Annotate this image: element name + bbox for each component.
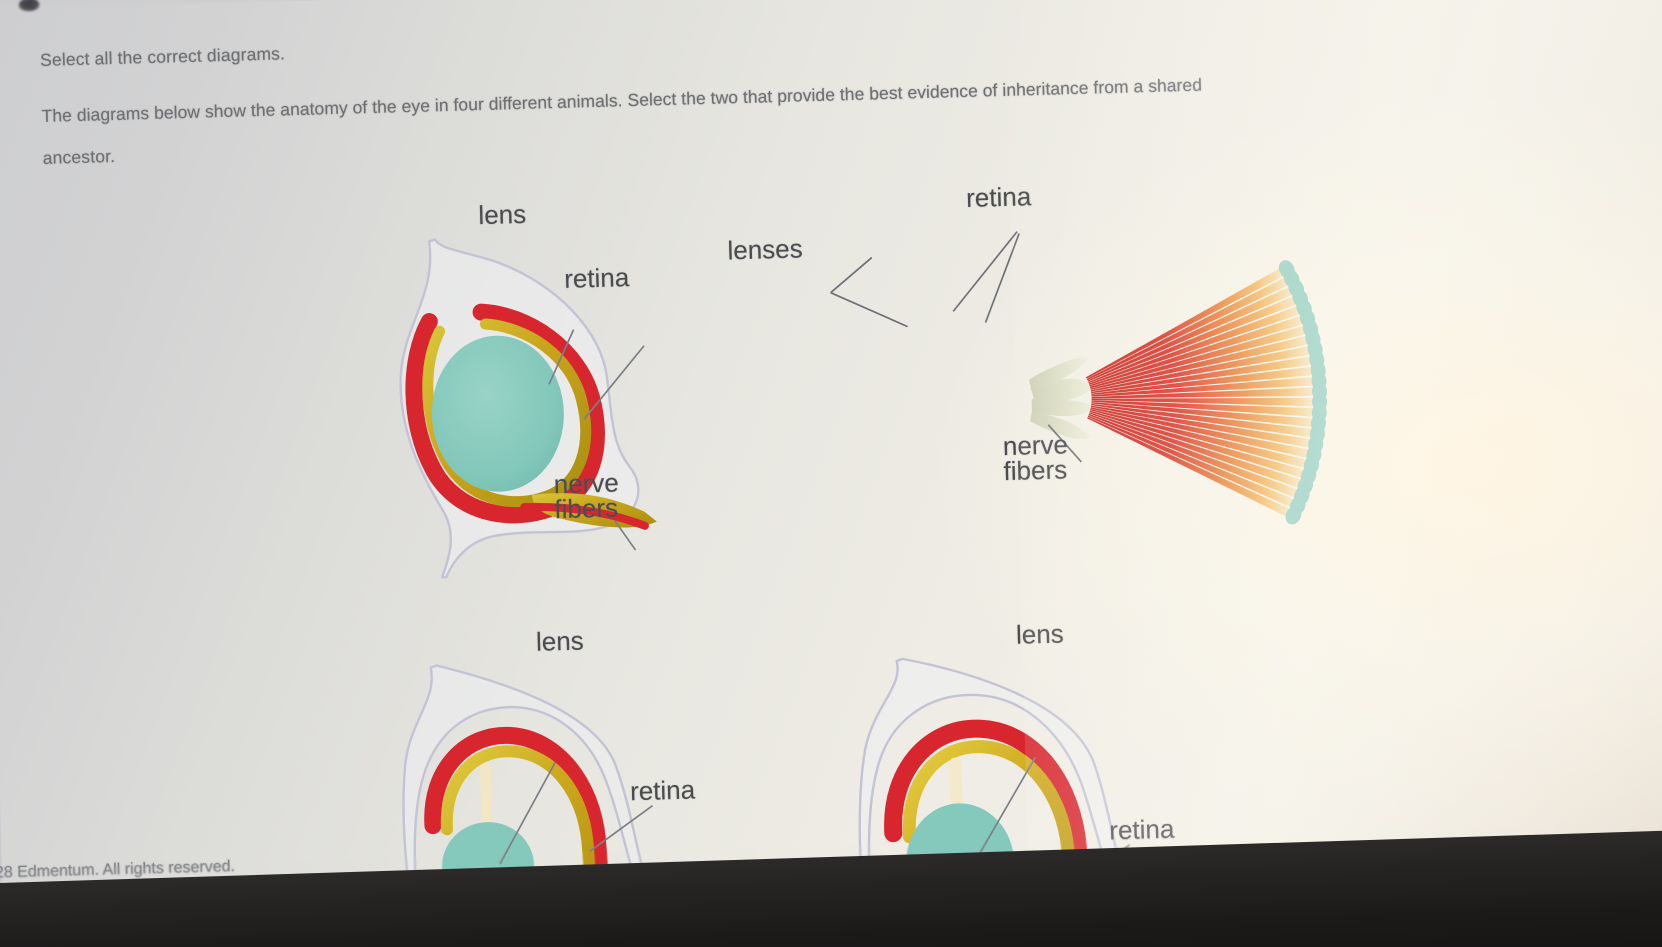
diagram-2-lenses-label: lenses (727, 235, 803, 264)
question-instruction: Select all the correct diagrams. (40, 43, 286, 71)
left-edge-strip (0, 0, 5, 947)
lenses-leader-lines (830, 257, 908, 329)
diagram-1-retina-label: retina (564, 264, 630, 292)
nerve-fibers-line-2: fibers (554, 496, 620, 523)
diagram-4-lens-label: lens (1016, 621, 1064, 649)
diagram-2-nerve-fibers-label: nerve fibers (1003, 432, 1069, 485)
diagram-2-compound-eye[interactable]: lenses retina nerve fibers (754, 197, 1185, 608)
question-body-line-2: ancestor. (42, 146, 115, 169)
question-body-line-1: The diagrams below show the anatomy of t… (41, 75, 1202, 127)
diagram-2-retina-label: retina (966, 183, 1032, 211)
page-surface: Select all the correct diagrams. The dia… (0, 0, 1662, 947)
chrome-smudge-mark (18, 0, 39, 12)
diagram-3-retina-label: retina (630, 777, 696, 805)
diagram-1-vertebrate-eye[interactable]: lens retina nerve fibers (375, 217, 745, 587)
diagram-1-graphic[interactable] (375, 217, 745, 587)
nerve-fibers-line-2: fibers (1003, 458, 1069, 485)
monitor-photo: Select all the correct diagrams. The dia… (0, 0, 1662, 947)
ommatidia-group (1083, 267, 1319, 523)
diagram-1-lens-label: lens (478, 201, 526, 229)
diagram-2-graphic[interactable] (754, 197, 1185, 608)
browser-chrome-strip (0, 0, 1662, 10)
nerve-fiber-tail (1029, 357, 1097, 440)
nerve-stalk (485, 768, 487, 824)
diagram-4-retina-label: retina (1109, 816, 1175, 844)
diagram-3-lens-label: lens (536, 627, 584, 655)
retina-leader-lines (951, 232, 1021, 324)
diagram-1-nerve-fibers-label: nerve fibers (553, 470, 619, 523)
